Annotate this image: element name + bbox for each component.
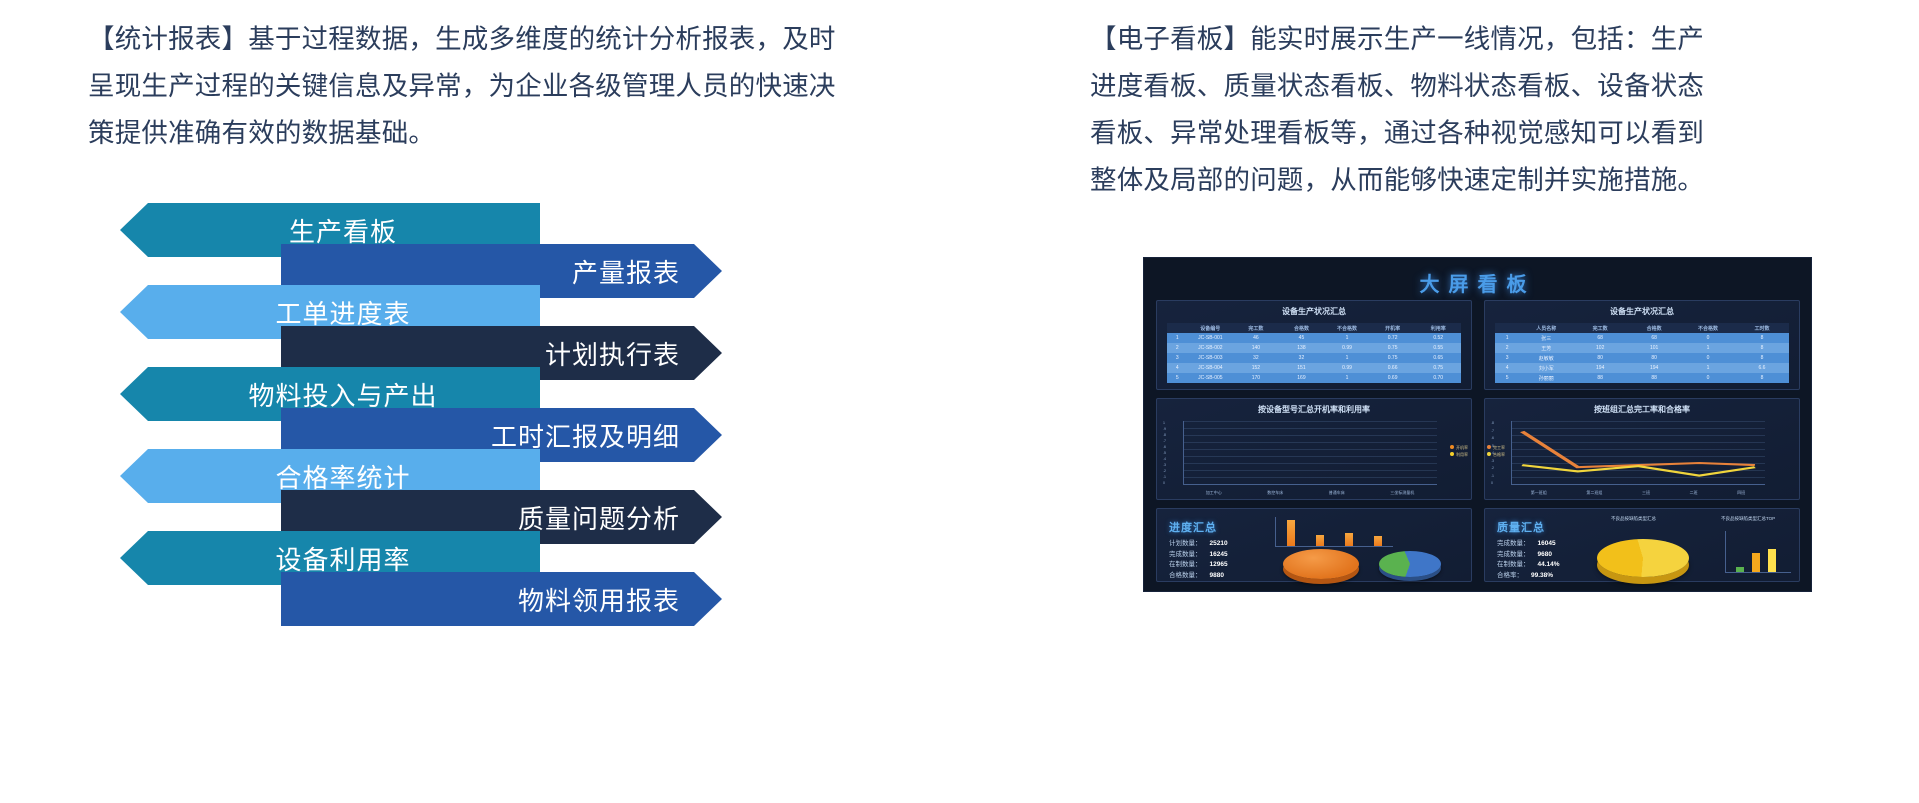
y-tick: .7 [1491,429,1494,433]
legend-entry: 合格率 [1487,451,1505,458]
mini-bar [1316,535,1324,546]
bar-chart-y-axis: 1 .9 .8 .7 .6 .5 .4 .3 .2 .1 0 [1163,421,1166,485]
td: 1 [1167,335,1188,341]
y-tick: .9 [1163,427,1166,431]
line-completion-rate [1522,432,1755,468]
x-tick: 第二班组 [1586,490,1602,496]
td: 0.99 [1324,365,1370,371]
panel-line-chart: 按班组汇总完工率和合格率 .8 .7 .6 .5 .4 .3 .2 .1 0 [1484,398,1800,500]
table-row: 4 JC-SB-004 152 151 0.99 0.66 0.75 [1167,363,1461,373]
table-row: 1 JC-SB-001 46 45 1 0.72 0.52 [1167,333,1461,343]
td: 32 [1233,355,1279,361]
td: 刘小军 [1519,365,1573,372]
td: JC-SB-002 [1188,345,1234,351]
stat-row: 在制数量：12965 [1169,560,1228,571]
y-tick: .4 [1163,457,1166,461]
legend-entry: 完工率 [1487,444,1505,451]
td: 6.6 [1735,365,1789,371]
th: 人员名称 [1519,325,1573,332]
td: 0.75 [1415,365,1461,371]
table-row: 5 JC-SB-005 170 169 1 0.69 0.70 [1167,373,1461,383]
right-paragraph: 【电子看板】能实时展示生产一线情况，包括：生产进度看板、质量状态看板、物料状态看… [1090,16,1730,204]
td: 0.69 [1370,375,1416,381]
y-tick: 0 [1163,481,1166,485]
line-chart-x-axis: 第一班组 第二班组 三班 二班 四班 [1511,490,1765,496]
progress-mini-bar-chart [1275,517,1393,547]
y-tick: 1 [1163,421,1166,425]
y-tick: .1 [1163,475,1166,479]
chevron-label: 质量问题分析 [518,499,680,536]
stat-value: 25210 [1210,540,1228,547]
mini-bar [1768,549,1776,572]
td: 孙丽丽 [1519,375,1573,382]
td: 8 [1735,355,1789,361]
x-tick: 四班 [1737,490,1745,496]
td: 2 [1495,345,1519,351]
stat-label: 完成数量： [1497,540,1530,547]
mini-bar [1736,567,1744,572]
y-tick: .6 [1163,445,1166,449]
panel-quality-summary: 质量汇总 完成数量：16045 完成数量：9680 在制数量：44.14% 合格… [1484,508,1800,582]
quality-summary-title: 质量汇总 [1497,519,1545,535]
td: 170 [1233,375,1279,381]
td: 138 [1279,345,1325,351]
td: 151 [1279,365,1325,371]
th: 不合格数 [1324,325,1370,332]
td: 0.65 [1415,355,1461,361]
th: 开机率 [1370,325,1416,332]
td: 8 [1735,345,1789,351]
td: 2 [1167,345,1188,351]
th: 完工数 [1573,325,1627,332]
stat-value: 12965 [1210,561,1228,568]
progress-pie-orange [1283,549,1359,579]
td: 王芳 [1519,345,1573,352]
td: 0 [1681,355,1735,361]
stat-row: 合格率：99.38% [1497,571,1560,582]
report-chevron-list: 生产看板 产量报表 工单进度表 计划执行表 物料投入与产出 工时汇报及明细 合格… [0,203,780,653]
dashboard-screenshot: 大屏看板 设备生产状况汇总 设备编号 完工数 合格数 不合格数 开机率 利用率 [1143,257,1812,592]
bar-chart-plot-area [1183,421,1437,485]
y-tick: .6 [1491,436,1494,440]
td: 8 [1735,375,1789,381]
table-row: 2 王芳 102 101 1 8 [1495,343,1789,353]
td: 169 [1279,375,1325,381]
quality-bar-title: 不良品按缺陷类型汇总TOP [1721,516,1775,522]
table-row: 4 刘小军 194 194 1 6.6 [1495,363,1789,373]
x-tick: 数控车床 [1267,490,1283,496]
td: 0.72 [1370,335,1416,341]
chevron-item-9[interactable]: 物料领用报表 [281,572,722,626]
legend-label: 开机率 [1456,445,1468,450]
td: 46 [1233,335,1279,341]
td: 4 [1167,365,1188,371]
stat-label: 完成数量： [1497,551,1530,558]
y-tick: .1 [1491,474,1494,478]
td: 0.99 [1324,345,1370,351]
td: 0 [1681,335,1735,341]
td: 0.75 [1370,355,1416,361]
stat-row: 计划数量：25210 [1169,539,1228,550]
stat-label: 合格数量： [1169,572,1202,579]
table-row: 3 JC-SB-003 32 32 1 0.75 0.65 [1167,353,1461,363]
td: 3 [1167,355,1188,361]
panel-title: 设备生产状况汇总 [1485,306,1799,317]
stat-value: 9880 [1210,572,1224,579]
td: 8 [1735,335,1789,341]
td: 0.52 [1415,335,1461,341]
line-pass-rate [1522,465,1755,476]
left-paragraph: 【统计报表】基于过程数据，生成多维度的统计分析报表，及时呈现生产过程的关键信息及… [88,16,848,157]
td: 1 [1324,355,1370,361]
mini-bar [1374,536,1382,546]
stat-label: 计划数量： [1169,540,1202,547]
bar-chart-legend: 开机率 利用率 [1450,444,1468,458]
th: 工时数 [1735,325,1789,332]
td: 0 [1681,375,1735,381]
legend-label: 利用率 [1456,452,1468,457]
td: 45 [1279,335,1325,341]
stat-value: 16045 [1538,540,1556,547]
th: 设备编号 [1188,325,1234,332]
legend-entry: 开机率 [1450,444,1468,451]
mini-bar [1752,553,1760,572]
legend-entry: 利用率 [1450,451,1468,458]
td: 张三 [1519,335,1573,342]
chevron-label: 工时汇报及明细 [491,417,680,454]
td: 68 [1627,335,1681,341]
td: 1 [1324,335,1370,341]
chevron-label: 合格率统计 [275,458,410,495]
td: 194 [1573,365,1627,371]
th: 完工数 [1233,325,1279,332]
mini-bar [1345,533,1353,546]
td: 88 [1573,375,1627,381]
panel-equipment-table-right: 设备生产状况汇总 人员名称 完工数 合格数 不合格数 工时数 1 张三 68 [1484,300,1800,390]
chevron-label: 产量报表 [572,253,680,290]
td: 88 [1627,375,1681,381]
y-tick: .8 [1163,433,1166,437]
equipment-table-left: 设备编号 完工数 合格数 不合格数 开机率 利用率 1 JC-SB-001 46… [1167,323,1461,383]
stat-value: 16245 [1210,551,1228,558]
stat-row: 合格数量：9880 [1169,571,1228,582]
stat-value: 99.38% [1531,572,1553,579]
td: 1 [1681,345,1735,351]
stat-value: 9680 [1538,551,1552,558]
td: JC-SB-003 [1188,355,1234,361]
td: 80 [1573,355,1627,361]
stat-row: 完成数量：16245 [1169,550,1228,561]
table-header-row: 人员名称 完工数 合格数 不合格数 工时数 [1495,323,1789,333]
td: 1 [1681,365,1735,371]
panel-bar-chart: 按设备型号汇总开机率和利用率 1 .9 .8 .7 .6 .5 .4 .3 .2… [1156,398,1472,500]
stat-label: 在制数量： [1497,561,1530,568]
td: JC-SB-005 [1188,375,1234,381]
line-chart-plot-area [1511,421,1765,485]
td: 140 [1233,345,1279,351]
dashboard-title: 大屏看板 [1144,268,1811,297]
slide-root: 【统计报表】基于过程数据，生成多维度的统计分析报表，及时呈现生产过程的关键信息及… [0,0,1919,803]
td: 194 [1627,365,1681,371]
x-tick: 普通车床 [1329,490,1345,496]
td: 0.55 [1415,345,1461,351]
td: 赵敏敏 [1519,355,1573,362]
td: 5 [1495,375,1519,381]
chevron-label: 物料领用报表 [518,581,680,618]
quality-pie-title: 不良品按缺陷类型汇总 [1611,516,1656,522]
td: 0.75 [1370,345,1416,351]
td: 0.70 [1415,375,1461,381]
panel-progress-summary: 进度汇总 计划数量：25210 完成数量：16245 在制数量：12965 合格… [1156,508,1472,582]
th: 合格数 [1627,325,1681,332]
td: 1 [1495,335,1519,341]
td: 5 [1167,375,1188,381]
td: JC-SB-001 [1188,335,1234,341]
line-chart-svg [1512,421,1765,484]
x-tick: 加工中心 [1206,490,1222,496]
x-tick: 三坐标测量机 [1390,490,1414,496]
td: 0.66 [1370,365,1416,371]
y-tick: .2 [1491,466,1494,470]
stat-label: 在制数量： [1169,561,1202,568]
td: 101 [1627,345,1681,351]
th: 不合格数 [1681,325,1735,332]
table-row: 3 赵敏敏 80 80 0 8 [1495,353,1789,363]
stat-value: 44.14% [1538,561,1560,568]
chevron-label: 计划执行表 [545,335,680,372]
th: 合格数 [1279,325,1325,332]
panel-title: 按设备型号汇总开机率和利用率 [1157,404,1471,415]
td: 32 [1279,355,1325,361]
y-tick: .3 [1491,459,1494,463]
line-chart-legend: 完工率 合格率 [1487,444,1505,458]
table-row: 1 张三 68 68 0 8 [1495,333,1789,343]
bar-series-group [1184,421,1437,484]
panel-title: 设备生产状况汇总 [1157,306,1471,317]
mini-bar [1287,520,1295,546]
stat-row: 在制数量：44.14% [1497,560,1560,571]
table-row: 2 JC-SB-002 140 138 0.99 0.75 0.55 [1167,343,1461,353]
panel-title: 按班组汇总完工率和合格率 [1485,404,1799,415]
y-tick: .2 [1163,469,1166,473]
stat-row: 完成数量：16045 [1497,539,1560,550]
x-tick: 三班 [1642,490,1650,496]
y-tick: .7 [1163,439,1166,443]
stat-label: 完成数量： [1169,551,1202,558]
quality-stat-list: 完成数量：16045 完成数量：9680 在制数量：44.14% 合格率：99.… [1497,539,1560,581]
td: 4 [1495,365,1519,371]
chevron-label: 设备利用率 [275,540,410,577]
legend-label: 合格率 [1493,452,1505,457]
td: 1 [1324,375,1370,381]
x-tick: 第一班组 [1531,490,1547,496]
bar-chart-x-axis: 加工中心 数控车床 普通车床 三坐标测量机 [1183,490,1437,496]
stat-label: 合格率： [1497,572,1523,579]
panel-equipment-table-left: 设备生产状况汇总 设备编号 完工数 合格数 不合格数 开机率 利用率 1 JC-… [1156,300,1472,390]
x-tick: 二班 [1690,490,1698,496]
stat-row: 完成数量：9680 [1497,550,1560,561]
right-column: 【电子看板】能实时展示生产一线情况，包括：生产进度看板、质量状态看板、物料状态看… [1030,0,1919,803]
td: 102 [1573,345,1627,351]
td: 68 [1573,335,1627,341]
progress-summary-title: 进度汇总 [1169,519,1217,535]
progress-stat-list: 计划数量：25210 完成数量：16245 在制数量：12965 合格数量：98… [1169,539,1228,581]
quality-pie-yellow [1597,539,1689,577]
td: 80 [1627,355,1681,361]
legend-label: 完工率 [1493,445,1505,450]
personnel-table: 人员名称 完工数 合格数 不合格数 工时数 1 张三 68 68 0 8 [1495,323,1789,383]
th: 利用率 [1415,325,1461,332]
table-header-row: 设备编号 完工数 合格数 不合格数 开机率 利用率 [1167,323,1461,333]
left-column: 【统计报表】基于过程数据，生成多维度的统计分析报表，及时呈现生产过程的关键信息及… [0,0,1030,803]
td: 152 [1233,365,1279,371]
table-row: 5 孙丽丽 88 88 0 8 [1495,373,1789,383]
td: JC-SB-004 [1188,365,1234,371]
y-tick: .3 [1163,463,1166,467]
chevron-label: 工单进度表 [275,294,410,331]
chevron-label: 物料投入与产出 [248,376,437,413]
y-tick: .5 [1163,451,1166,455]
chevron-label: 生产看板 [289,212,397,249]
progress-pie-blue [1379,551,1441,577]
y-tick: .8 [1491,421,1494,425]
y-tick: 0 [1491,481,1494,485]
quality-mini-bar-chart [1725,531,1791,573]
td: 3 [1495,355,1519,361]
